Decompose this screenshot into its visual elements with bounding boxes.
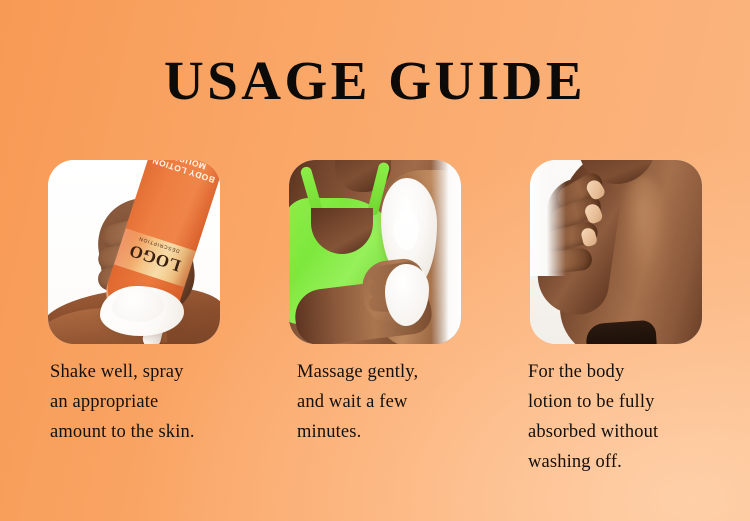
usage-guide-poster: USAGE GUIDE BODY LOTION MOUSSE DESCRIPTI…	[0, 0, 750, 521]
foam-highlight	[112, 288, 164, 322]
skin-highlight	[616, 176, 670, 296]
step-3-caption: For the body lotion to be fully absorbed…	[525, 357, 728, 477]
step-image-row: BODY LOTION MOUSSE DESCRIPTION LOGO	[48, 160, 702, 344]
background-fade	[530, 160, 566, 276]
background-fade	[431, 160, 461, 344]
step-1-image-card: BODY LOTION MOUSSE DESCRIPTION LOGO	[48, 160, 220, 344]
foam-highlight	[393, 210, 419, 250]
step-1-caption: Shake well, spray an appropriate amount …	[48, 357, 293, 477]
step-2-image-card	[289, 160, 461, 344]
step-caption-row: Shake well, spray an appropriate amount …	[48, 357, 728, 477]
page-title: USAGE GUIDE	[0, 53, 750, 109]
step-3-image-card	[530, 160, 702, 344]
step-2-caption: Massage gently, and wait a few minutes.	[293, 357, 525, 477]
